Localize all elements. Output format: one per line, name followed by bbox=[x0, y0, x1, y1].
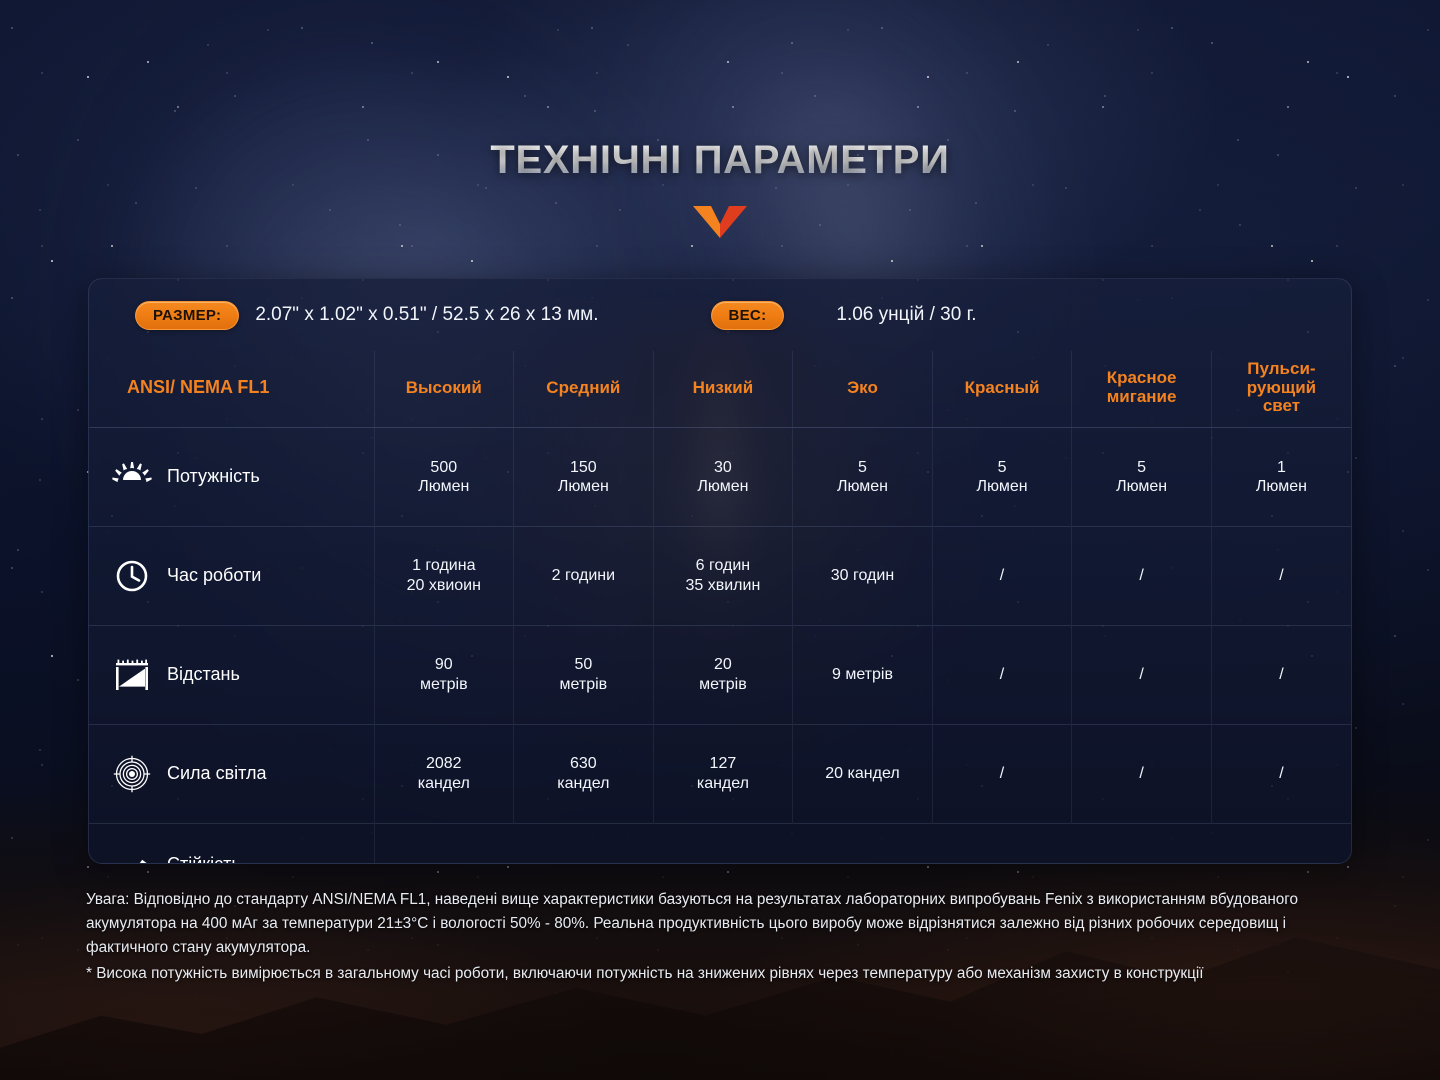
weight-pill-label: ВЕС: bbox=[711, 301, 785, 330]
cell-output-red: 5 Люмен bbox=[932, 428, 1072, 527]
table-row: Стійкість до ударів 1 метрів bbox=[89, 823, 1351, 864]
cell-runtime-red: / bbox=[932, 526, 1072, 625]
clock-icon bbox=[111, 557, 153, 595]
row-label-runtime: Час роботи bbox=[89, 526, 374, 625]
column-header-pulse: Пульси- рующий свет bbox=[1211, 351, 1351, 428]
row-label-intensity: Сила світла bbox=[89, 724, 374, 823]
row-label-text: Час роботи bbox=[167, 565, 261, 587]
cell-distance-pulse: / bbox=[1211, 625, 1351, 724]
table-row: Сила світла 2082 кандел 630 кандел 127 к… bbox=[89, 724, 1351, 823]
table-body: Потужність 500 Люмен 150 Люмен 30 Люмен … bbox=[89, 428, 1351, 864]
cell-distance-medium: 50 метрів bbox=[514, 625, 654, 724]
column-header-high: Высокий bbox=[374, 351, 514, 428]
table-header: ANSI/ NEMA FL1 Высокий Средний Низкий Эк… bbox=[89, 351, 1351, 428]
table-row: Час роботи 1 година 20 хвиоин 2 години 6… bbox=[89, 526, 1351, 625]
cell-intensity-red: / bbox=[932, 724, 1072, 823]
impact-resistance-icon bbox=[111, 856, 153, 864]
cell-intensity-low: 127 кандел bbox=[653, 724, 793, 823]
row-label-text: Потужність bbox=[167, 466, 260, 488]
panel-header-row: РАЗМЕР: 2.07" x 1.02" x 0.51" / 52.5 x 2… bbox=[89, 279, 1351, 351]
weight-value: 1.06 унцій / 30 г. bbox=[836, 304, 976, 326]
table-row: Потужність 500 Люмен 150 Люмен 30 Люмен … bbox=[89, 428, 1351, 527]
specifications-panel: РАЗМЕР: 2.07" x 1.02" x 0.51" / 52.5 x 2… bbox=[88, 278, 1352, 864]
cell-distance-eco: 9 метрів bbox=[793, 625, 933, 724]
page-title: ТЕХНІЧНІ ПАРАМЕТРИ bbox=[490, 138, 949, 183]
cell-runtime-high: 1 година 20 хвиоин bbox=[374, 526, 514, 625]
row-label-text: Відстань bbox=[167, 664, 240, 686]
cell-output-high: 500 Люмен bbox=[374, 428, 514, 527]
footnote-block: Увага: Відповідно до стандарту ANSI/NEMA… bbox=[86, 888, 1340, 985]
cell-runtime-pulse: / bbox=[1211, 526, 1351, 625]
cell-impact-resistance-all: 1 метрів bbox=[374, 823, 1351, 864]
cell-intensity-medium: 630 кандел bbox=[514, 724, 654, 823]
column-header-red: Красный bbox=[932, 351, 1072, 428]
cell-output-low: 30 Люмен bbox=[653, 428, 793, 527]
column-header-medium: Средний bbox=[514, 351, 654, 428]
weight-group: ВЕС: 1.06 унцій / 30 г. bbox=[711, 301, 977, 330]
column-header-standard: ANSI/ NEMA FL1 bbox=[89, 351, 374, 428]
cell-output-red-flash: 5 Люмен bbox=[1072, 428, 1212, 527]
column-header-low: Низкий bbox=[653, 351, 793, 428]
cell-distance-low: 20 метрів bbox=[653, 625, 793, 724]
specifications-table: ANSI/ NEMA FL1 Высокий Средний Низкий Эк… bbox=[89, 351, 1351, 864]
cell-runtime-eco: 30 годин bbox=[793, 526, 933, 625]
cell-runtime-low: 6 годин 35 хвилин bbox=[653, 526, 793, 625]
cell-runtime-red-flash: / bbox=[1072, 526, 1212, 625]
table-row: Відстань 90 метрів 50 метрів 20 метрів 9… bbox=[89, 625, 1351, 724]
row-label-text: Сила світла bbox=[167, 763, 267, 785]
footnote-line-2: * Висока потужність вимірюється в загаль… bbox=[86, 962, 1340, 986]
cell-intensity-red-flash: / bbox=[1072, 724, 1212, 823]
cell-output-eco: 5 Люмен bbox=[793, 428, 933, 527]
row-label-distance: Відстань bbox=[89, 625, 374, 724]
cell-distance-high: 90 метрів bbox=[374, 625, 514, 724]
row-label-text: Стійкість до ударів bbox=[167, 854, 245, 864]
cell-runtime-medium: 2 години bbox=[514, 526, 654, 625]
spec-sheet-page: ТЕХНІЧНІ ПАРАМЕТРИ РАЗМЕР: 2.07" x 1.02"… bbox=[0, 0, 1440, 1080]
footnote-line-1: Увага: Відповідно до стандарту ANSI/NEMA… bbox=[86, 888, 1340, 960]
column-header-eco: Эко bbox=[793, 351, 933, 428]
cell-intensity-eco: 20 кандел bbox=[793, 724, 933, 823]
cell-output-pulse: 1 Люмен bbox=[1211, 428, 1351, 527]
row-label-impact-resistance: Стійкість до ударів bbox=[89, 823, 374, 864]
target-intensity-icon bbox=[111, 755, 153, 793]
ruler-beam-distance-icon bbox=[111, 656, 153, 694]
cell-distance-red: / bbox=[932, 625, 1072, 724]
chevron-down-icon bbox=[692, 205, 748, 239]
cell-output-medium: 150 Люмен bbox=[514, 428, 654, 527]
size-group: РАЗМЕР: 2.07" x 1.02" x 0.51" / 52.5 x 2… bbox=[135, 301, 599, 330]
column-header-red-flash: Красное мигание bbox=[1072, 351, 1212, 428]
cell-intensity-pulse: / bbox=[1211, 724, 1351, 823]
cell-distance-red-flash: / bbox=[1072, 625, 1212, 724]
table-header-row: ANSI/ NEMA FL1 Высокий Средний Низкий Эк… bbox=[89, 351, 1351, 428]
size-value: 2.07" x 1.02" x 0.51" / 52.5 x 26 x 13 м… bbox=[255, 304, 598, 326]
size-pill-label: РАЗМЕР: bbox=[135, 301, 239, 330]
row-label-output: Потужність bbox=[89, 428, 374, 527]
brightness-sunburst-icon bbox=[111, 458, 153, 496]
cell-intensity-high: 2082 кандел bbox=[374, 724, 514, 823]
page-header: ТЕХНІЧНІ ПАРАМЕТРИ bbox=[0, 138, 1440, 239]
